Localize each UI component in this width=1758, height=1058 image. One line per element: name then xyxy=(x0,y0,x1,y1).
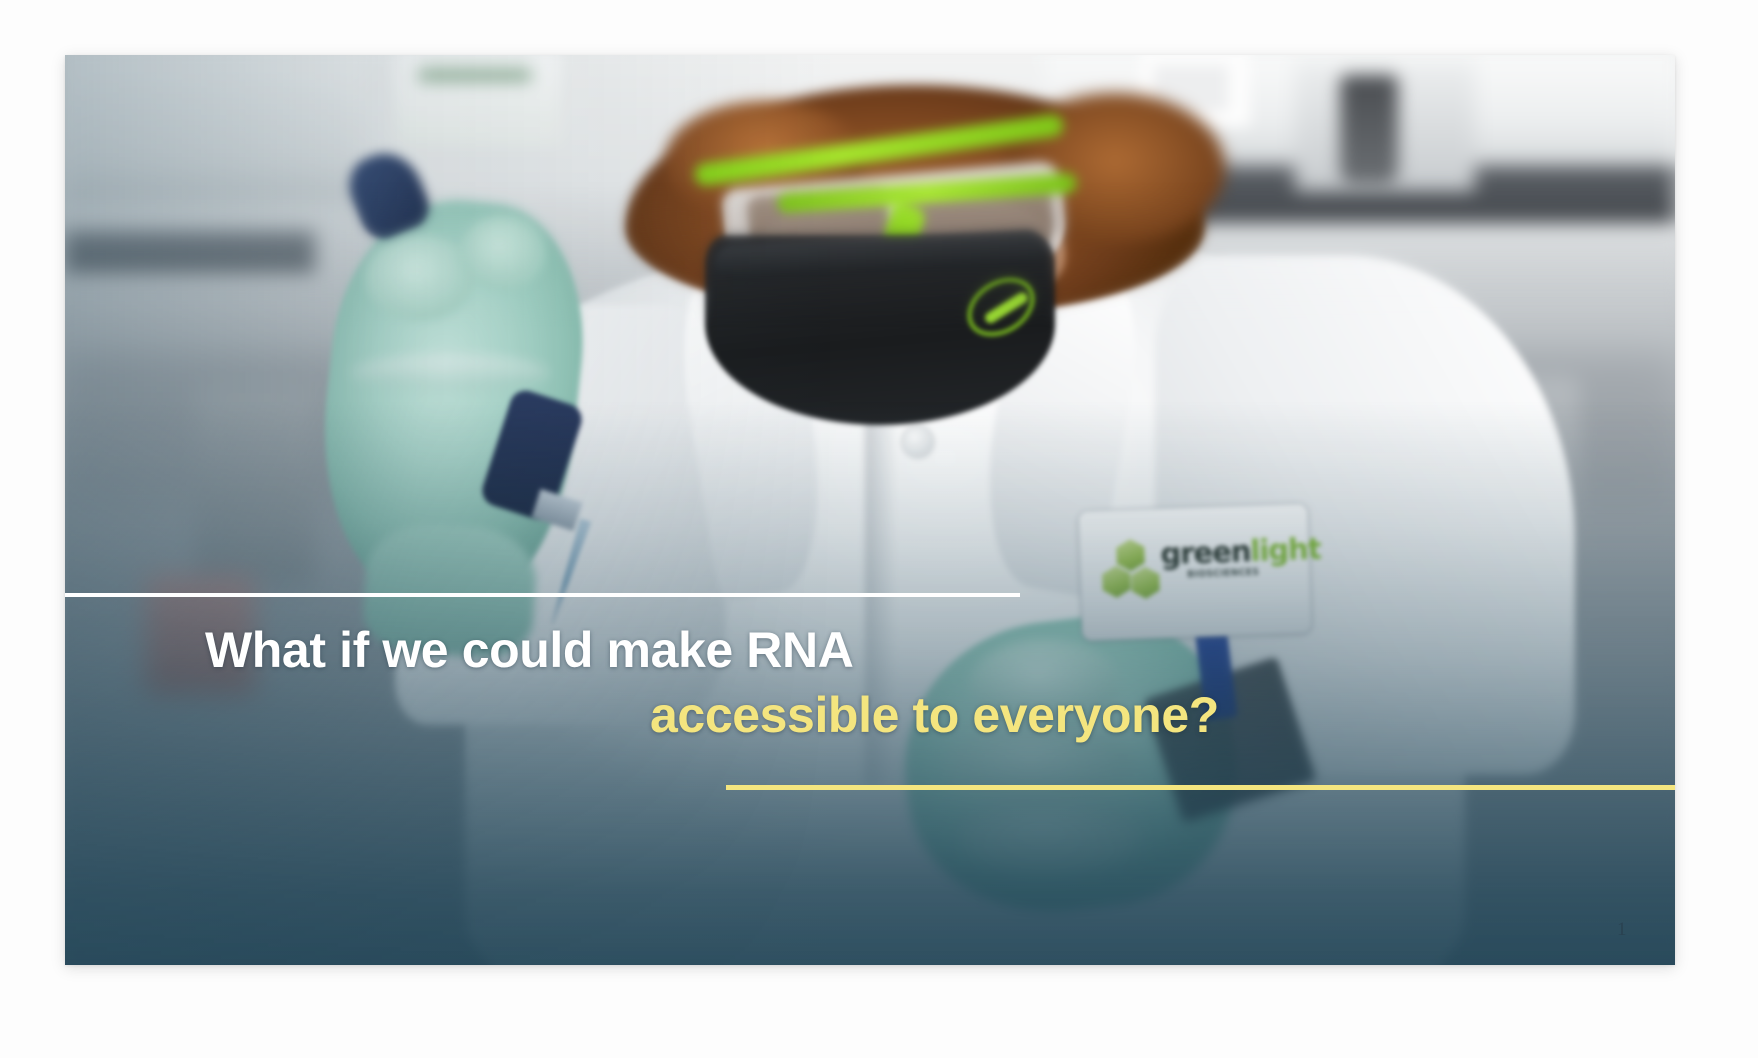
hexagon-mark-icon xyxy=(1100,538,1164,602)
headline-divider-rule xyxy=(65,593,1020,597)
glove-left-fold xyxy=(350,355,550,391)
logo-word-green: green xyxy=(1160,534,1251,571)
page-subtitle: accessible to everyone? xyxy=(650,687,1675,743)
glove-right-finger-3 xyxy=(960,800,1140,872)
lab-equipment-left-icon xyxy=(195,385,315,585)
hexagon-icon-top xyxy=(1116,539,1145,572)
shelf-shadow-band-left xyxy=(65,231,315,273)
logo-word-light: light xyxy=(1250,532,1321,568)
reagent-bottle-icon xyxy=(1340,75,1398,185)
wall-poster-icon xyxy=(395,55,560,145)
glove-left-knuckle-1 xyxy=(365,235,475,321)
subtitle-underline-rule xyxy=(726,785,1675,790)
glove-left-knuckle-2 xyxy=(460,215,546,291)
logo-wordmark: greenlight xyxy=(1160,535,1321,570)
logo-tagline: BIOSCIENCES xyxy=(1187,567,1260,581)
hexagon-icon-bottom-right xyxy=(1131,566,1160,599)
page-title: What if we could make RNA xyxy=(205,622,1185,678)
presentation-slide: greenlight BIOSCIENCES What if we could … xyxy=(65,55,1675,965)
shelf-left-icon xyxy=(65,55,365,205)
hexagon-icon-bottom-left xyxy=(1102,565,1131,598)
greenlight-logo: greenlight BIOSCIENCES xyxy=(1100,530,1292,609)
slide-canvas: greenlight BIOSCIENCES What if we could … xyxy=(0,0,1758,1058)
slide-page-number: 1 xyxy=(1617,919,1627,941)
scientist-pipetting-photo: greenlight BIOSCIENCES xyxy=(65,55,1675,965)
lab-coat-button-icon xyxy=(903,427,933,457)
